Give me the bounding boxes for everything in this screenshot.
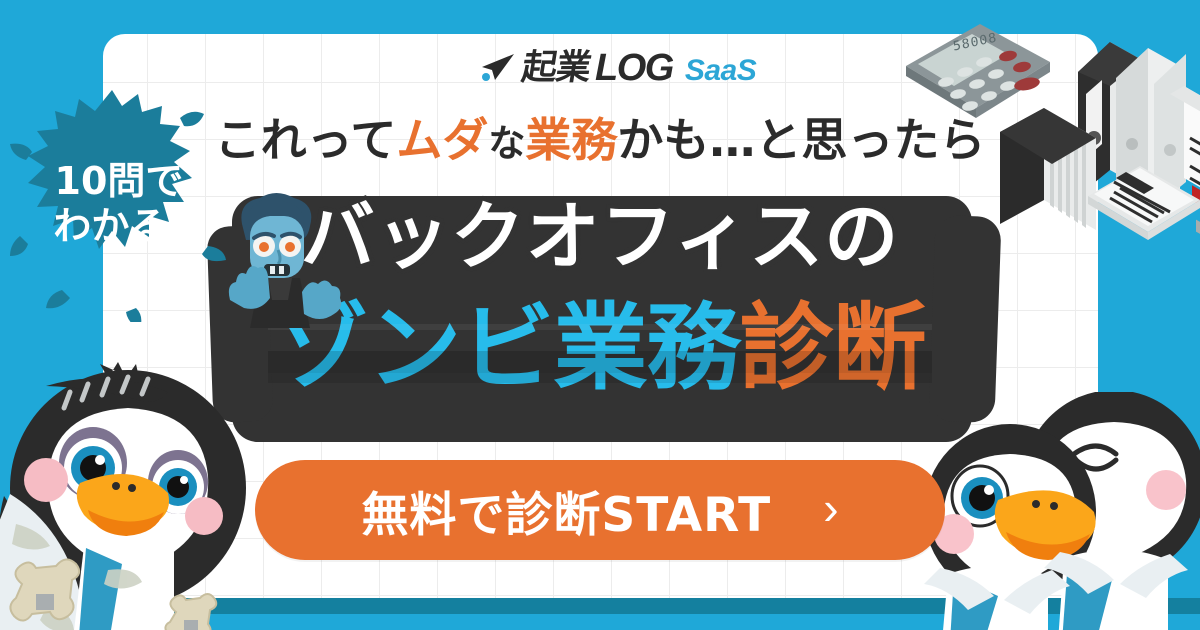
office-props-illustration: 58008	[896, 8, 1200, 240]
question-count-badge: 10問で わかる!	[8, 86, 230, 322]
logo-jp-text: 起業	[519, 51, 593, 86]
zombie-penguin-illustration	[0, 358, 278, 630]
chevron-right-icon: ›	[823, 485, 838, 531]
healthy-penguin-illustration	[918, 392, 1200, 630]
cta-label: 無料で診断START	[361, 476, 771, 545]
title-line-2-part-orange: 診断	[740, 300, 926, 399]
subtitle-part-3: 業務	[525, 113, 617, 167]
paper-plane-icon	[481, 53, 515, 83]
logo-saas-text: SaaS	[685, 56, 756, 86]
banner-stage: 58008	[0, 0, 1200, 630]
badge-line-2: わかる!	[53, 205, 184, 248]
subtitle-part-0: これって	[215, 113, 397, 167]
subtitle-part-1: ムダ	[396, 113, 488, 167]
logo-en-text: LOG	[595, 49, 673, 87]
brand-logo[interactable]: 起業 LOG SaaS	[481, 44, 756, 92]
start-diagnosis-button[interactable]: 無料で診断START ›	[255, 460, 945, 560]
badge-line-1: 10問で	[55, 160, 184, 203]
subtitle-part-2: な	[488, 122, 525, 165]
